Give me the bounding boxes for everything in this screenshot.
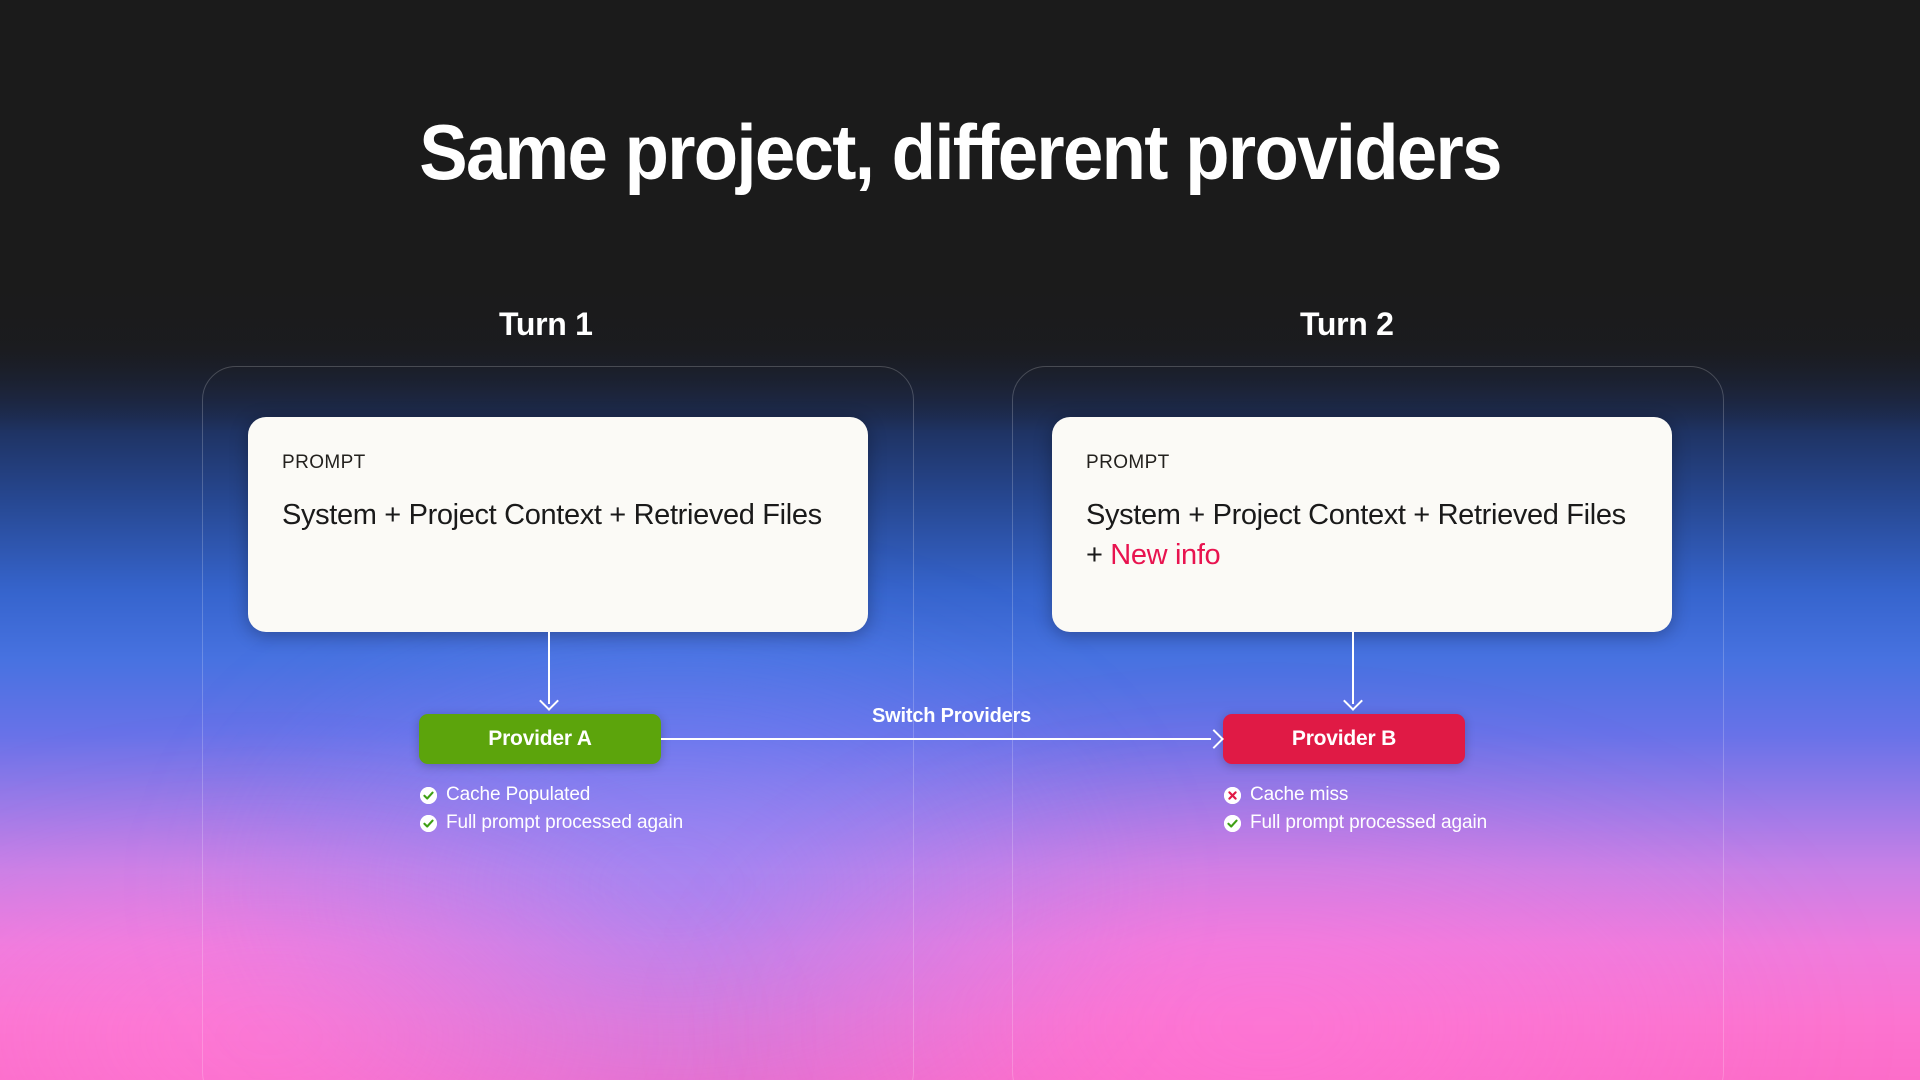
provider-a-pill[interactable]: Provider A	[419, 714, 661, 764]
turn-1-prompt-body: System + Project Context + Retrieved Fil…	[282, 495, 834, 535]
provider-b-pill[interactable]: Provider B	[1223, 714, 1465, 764]
switch-providers-label: Switch Providers	[872, 705, 1031, 728]
check-circle-icon	[420, 787, 437, 804]
turn-2-prompt-kicker: PROMPT	[1086, 453, 1638, 472]
list-item: Full prompt processed again	[420, 812, 683, 834]
turn-1-label: Turn 1	[499, 306, 593, 343]
turn-2-bullet-list: Cache miss Full prompt processed again	[1224, 784, 1487, 840]
turn-2-prompt-body: System + Project Context + Retrieved Fil…	[1086, 495, 1638, 575]
list-item: Cache miss	[1224, 784, 1487, 806]
check-circle-icon	[420, 815, 437, 832]
list-item-label: Cache Populated	[446, 784, 590, 806]
turn-2-prompt-card: PROMPT System + Project Context + Retrie…	[1052, 417, 1672, 632]
turn-1-prompt-kicker: PROMPT	[282, 453, 834, 472]
turn-2-prompt-accent-text: New info	[1110, 539, 1220, 571]
arrow-head	[1343, 691, 1363, 711]
list-item-label: Cache miss	[1250, 784, 1348, 806]
turn-1-prompt-card: PROMPT System + Project Context + Retrie…	[248, 417, 868, 632]
turn-2-label: Turn 2	[1300, 306, 1394, 343]
list-item-label: Full prompt processed again	[1250, 812, 1487, 834]
page-title: Same project, different providers	[67, 113, 1853, 191]
list-item: Cache Populated	[420, 784, 683, 806]
list-item-label: Full prompt processed again	[446, 812, 683, 834]
arrow-right-icon	[661, 731, 1223, 747]
arrow-head	[1204, 729, 1224, 749]
turn-1-prompt-text: System + Project Context + Retrieved Fil…	[282, 499, 822, 531]
slide-canvas: Same project, different providers Turn 1…	[0, 0, 1920, 1080]
turn-1-bullet-list: Cache Populated Full prompt processed ag…	[420, 784, 683, 840]
x-circle-icon	[1224, 787, 1241, 804]
arrow-head	[539, 691, 559, 711]
arrow-down-icon-turn-2	[1345, 632, 1361, 717]
check-circle-icon	[1224, 815, 1241, 832]
arrow-shaft	[661, 738, 1211, 740]
list-item: Full prompt processed again	[1224, 812, 1487, 834]
arrow-down-icon-turn-1	[541, 632, 557, 717]
